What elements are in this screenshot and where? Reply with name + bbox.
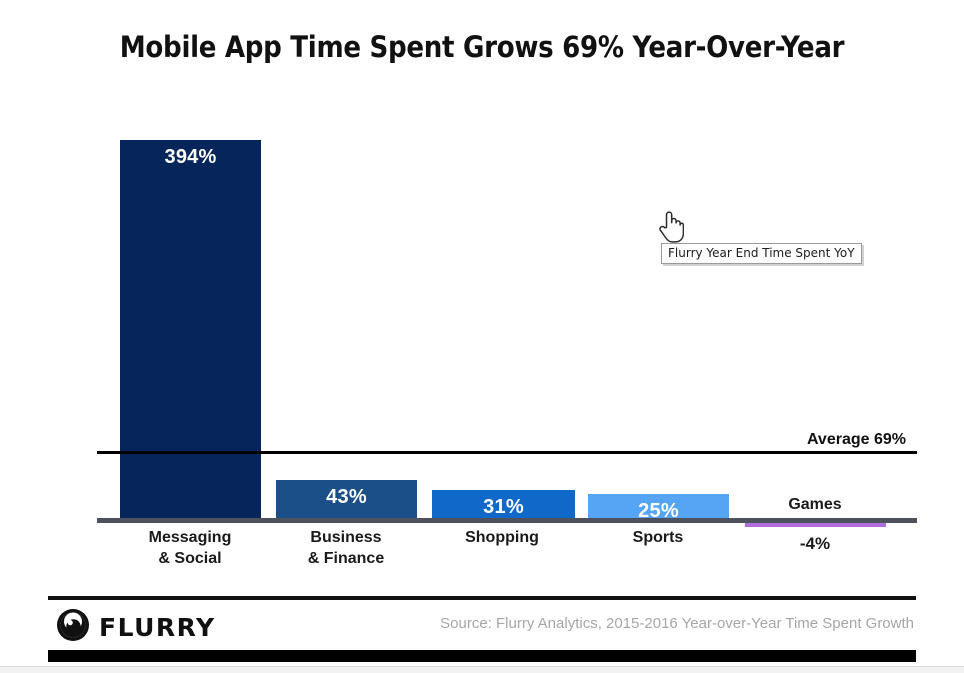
category-label-line1: Shopping [422, 527, 582, 548]
category-label: Messaging& Social [110, 527, 270, 569]
footer-divider-bottom [48, 650, 916, 662]
chart-tooltip: Flurry Year End Time Spent YoY [661, 243, 862, 264]
brand-wordmark: FLURRY [99, 613, 216, 642]
category-label: Business& Finance [266, 527, 426, 569]
category-label-line2: & Social [110, 548, 270, 569]
bar-messaging[interactable]: 394% [120, 140, 261, 519]
bar-value-label: 394% [120, 146, 261, 169]
category-label-line1: Games [735, 494, 895, 515]
bar-business[interactable]: 43% [276, 480, 417, 519]
footer: FLURRY Source: Flurry Analytics, 2015-20… [48, 596, 916, 658]
bar-shopping[interactable]: 31% [432, 490, 575, 519]
bar-chart: 394%43%31%25% Average 69% Messaging& Soc… [0, 0, 964, 590]
bar-value-label: 43% [276, 486, 417, 509]
footer-divider-top [48, 596, 916, 600]
category-label: Shopping [422, 527, 582, 548]
category-label-line1: Business [266, 527, 426, 548]
category-label-line1: Sports [578, 527, 738, 548]
category-label-line2: & Finance [266, 548, 426, 569]
category-label-line1: Messaging [110, 527, 270, 548]
bar-sports[interactable]: 25% [588, 494, 729, 519]
average-reference-label: Average 69% [700, 431, 906, 449]
average-reference-line [97, 451, 917, 454]
x-axis-line [97, 518, 917, 523]
brand-logo: FLURRY [56, 608, 216, 647]
source-note: Source: Flurry Analytics, 2015-2016 Year… [440, 615, 914, 632]
bar-value-label: 31% [432, 496, 575, 519]
category-label: Sports [578, 527, 738, 548]
bar-value-label: -4% [735, 533, 895, 554]
flurry-spiral-logo-icon [56, 608, 90, 647]
pointing-hand-cursor [658, 210, 684, 244]
category-label: Games [735, 494, 895, 515]
